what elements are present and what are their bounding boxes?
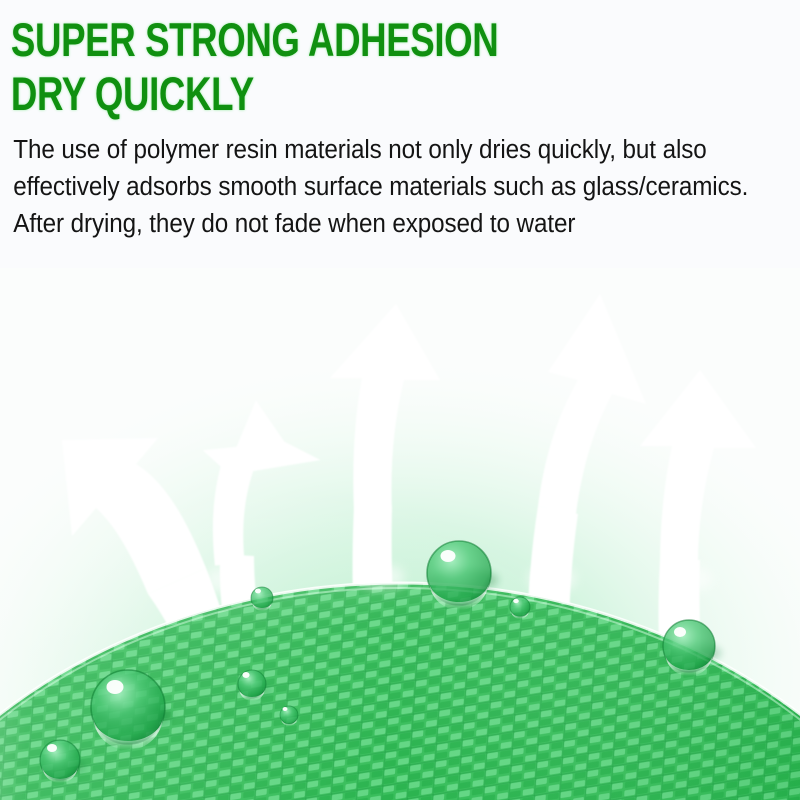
promo-poster: SUPER STRONG ADHESION DRY QUICKLY The us… [0, 0, 800, 800]
copy-block: SUPER STRONG ADHESION DRY QUICKLY The us… [0, 0, 800, 243]
product-illustration [0, 268, 800, 800]
headline-line-2: DRY QUICKLY [0, 66, 624, 120]
body-paragraph: The use of polymer resin materials not o… [0, 120, 760, 243]
headline-line-1: SUPER STRONG ADHESION [0, 0, 624, 66]
